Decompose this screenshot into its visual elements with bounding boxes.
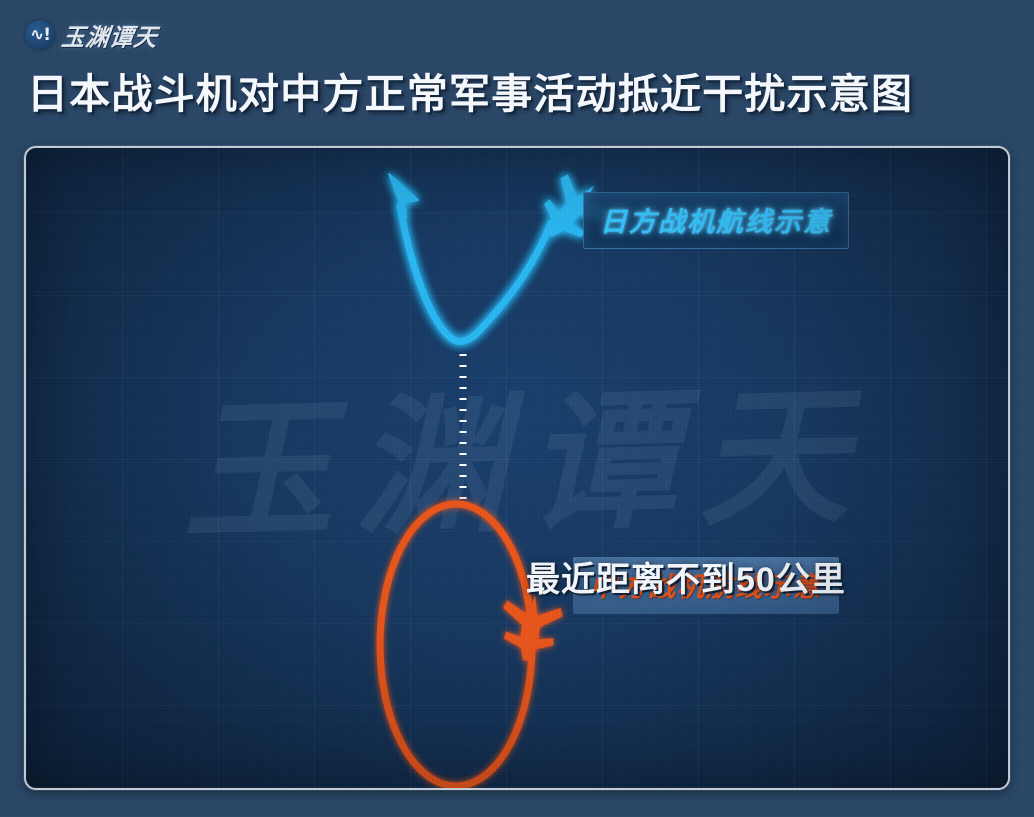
circle-logo-icon: ∿! xyxy=(25,20,55,50)
diagram-panel: 玉渊谭天 xyxy=(24,146,1010,790)
page-title: 日本战斗机对中方正常军事活动抵近干扰示意图 xyxy=(27,60,1017,120)
arrow-head-icon xyxy=(389,174,418,218)
brand-name: 玉渊谭天 xyxy=(60,17,160,53)
brand-mark-glyph: ∿! xyxy=(25,20,55,50)
header: ∿! 玉渊谭天 日本战斗机对中方正常军事活动抵近干扰示意图 xyxy=(0,0,1034,140)
routes-overlay xyxy=(26,148,1010,790)
japan-route-path xyxy=(400,206,551,341)
brand-logo: ∿! 玉渊谭天 xyxy=(25,18,158,52)
distance-callout: 最近距离不到50公里 xyxy=(526,552,846,601)
china-route-path xyxy=(380,504,532,786)
page-background: ∿! 玉渊谭天 日本战斗机对中方正常军事活动抵近干扰示意图 玉渊谭天 xyxy=(0,0,1034,817)
legend-japan-route: 日方战机航线示意 xyxy=(583,192,849,249)
